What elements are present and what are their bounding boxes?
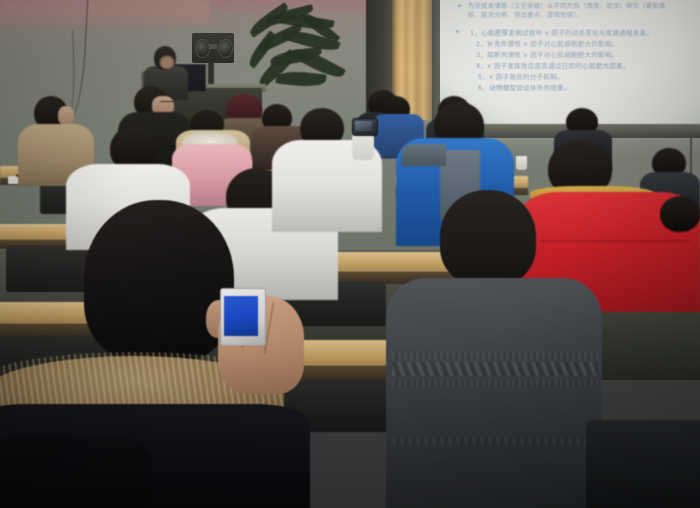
person-red-puffer-seam xyxy=(540,240,690,242)
person-fur-hood-head xyxy=(84,200,234,362)
person-grey-sweater-torso xyxy=(386,278,602,508)
slide-header-bullet-icon xyxy=(458,4,461,7)
person-bottom-left-silhouette xyxy=(0,436,150,508)
chair-foreground-bar xyxy=(586,420,700,508)
slide-item-6: 6、动物模型验证体外的结果。 xyxy=(478,83,571,92)
slide-item-2: 2、补充外源性 x 因子对心肌细胞肥大的影响。 xyxy=(476,39,619,48)
slide-item-1: 1、心肌肥厚发病过程中 x 因子的动态变化与疾病进程关系。 xyxy=(470,28,653,37)
av-speaker xyxy=(192,33,234,63)
sweater-knit-band-bottom xyxy=(392,438,598,446)
lecture-hall-photo: 为完成本课题（立论依据）从不同方向（角度、层次）研究（紧扣目标、层次分明、突出重… xyxy=(0,0,700,508)
wall-pink-band xyxy=(0,0,210,26)
projection-screen: 为完成本课题（立论依据）从不同方向（角度、层次）研究（紧扣目标、层次分明、突出重… xyxy=(440,0,700,128)
slide-item-4: 4、x 因子发挥效应是否通过已知的心肌肥大因素。 xyxy=(476,61,630,70)
slide-content: 为完成本课题（立论依据）从不同方向（角度、层次）研究（紧扣目标、层次分明、突出重… xyxy=(468,2,698,122)
slide-header-line: 为完成本课题（立论依据）从不同方向（角度、层次）研究（紧扣目标、层次分明、突出重… xyxy=(468,2,678,20)
speaker-cone-left-icon xyxy=(195,39,210,58)
person-tan-sweater-face xyxy=(58,106,74,126)
smartphone-white-screen xyxy=(224,296,258,336)
paper-cup xyxy=(516,156,527,170)
slide-item-bullet-icon xyxy=(456,30,459,33)
smartphone-dark-screen xyxy=(355,121,372,131)
person-grey-sweater-head xyxy=(440,190,536,286)
plant-leaf-icon xyxy=(275,69,326,88)
slide-item-5: 5、x 因子效应的分子机制。 xyxy=(478,72,564,81)
glasses-icon xyxy=(160,101,176,106)
sweater-knit-band-upper xyxy=(392,352,598,359)
speaker-cone-right-icon xyxy=(218,39,233,58)
sweater-knit-band-lower xyxy=(392,380,598,386)
person-blue-jacket-shoulder-panel xyxy=(402,144,446,166)
person-right-edge-head xyxy=(660,196,700,232)
smartphone-home-button-icon[interactable] xyxy=(236,338,245,343)
presenter-face xyxy=(160,56,174,69)
sweater-knit-band-cable xyxy=(392,362,598,376)
speaker-tweeter-icon xyxy=(209,44,217,49)
slide-item-3: 3、阻断内源性 x 因子对心肌细胞肥大的影响。 xyxy=(476,50,619,59)
